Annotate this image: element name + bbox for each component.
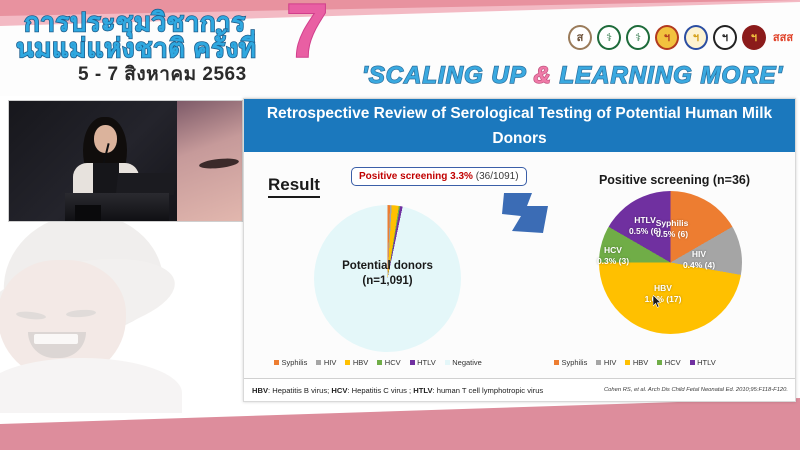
pie-slice-label-hbv: HBV 1.6% (17): [636, 283, 690, 304]
callout-percentage: Positive screening 3.3%: [359, 171, 473, 182]
tagline-ampersand: &: [534, 62, 552, 89]
mouse-cursor-icon: [653, 295, 662, 308]
conference-tagline: 'SCALING UP & LEARNING MORE': [362, 62, 783, 90]
source-citation: Cohen RS, et al. Arch Dis Child Fetal Ne…: [604, 387, 788, 393]
legend2-item-htlv: HTLV: [690, 358, 716, 367]
legend-label-hcv: HCV: [385, 358, 401, 367]
sponsor-logo-7-icon: ฯ: [742, 24, 766, 50]
legend-label-htlv: HTLV: [417, 358, 436, 367]
legend2-item-hiv: HIV: [596, 358, 616, 367]
legend-swatch-htlv: [410, 360, 415, 365]
pie-slice-label-htlv: HTLV 0.5% (6): [622, 215, 668, 236]
legend-positive-screening: Syphilis HIV HBV HCV HTLV: [554, 358, 716, 367]
presentation-slide: Retrospective Review of Serological Test…: [243, 98, 796, 402]
slide-footnote-bar: HBV: Hepatitis B virus; HCV: Hepatitis C…: [244, 378, 795, 401]
sponsor-logo-5-icon: ฯ: [684, 24, 708, 50]
legend-item-negative: Negative: [445, 358, 482, 367]
legend-swatch-hcv: [377, 360, 382, 365]
legend2-item-hbv: HBV: [625, 358, 648, 367]
legend-label-syphilis: Syphilis: [282, 358, 308, 367]
legend2-label-hiv: HIV: [604, 358, 617, 367]
conference-date: 5 - 7 สิงหาคม 2563: [78, 59, 247, 89]
callout-fraction: (36/1091): [476, 171, 519, 182]
legend2-swatch-hiv: [596, 360, 601, 365]
slice-value-hcv: 0.3% (3): [592, 256, 634, 267]
slice-value-hiv: 0.4% (4): [676, 260, 722, 271]
legend2-swatch-hcv: [657, 360, 662, 365]
flow-arrow-icon: [502, 189, 550, 235]
tagline-part2: LEARNING MORE': [552, 62, 783, 89]
abbrev-hbv-definition: : Hepatitis B virus;: [268, 386, 331, 395]
screenshot-stage: การประชุมวิชาการ นมแม่แห่งชาติ ครั้งที่ …: [0, 0, 800, 450]
abbrev-hcv: HCV: [331, 386, 347, 395]
abbrev-htlv: HTLV: [413, 386, 432, 395]
legend2-label-htlv: HTLV: [697, 358, 716, 367]
sponsor-logo-8-icon: สสส: [771, 24, 795, 50]
sponsor-logo-6-icon: ฯ: [713, 24, 737, 50]
legend-item-hcv: HCV: [377, 358, 400, 367]
sponsor-logo-1-icon: ส: [568, 24, 592, 50]
potential-donors-pie-label: Potential donors (n=1,091): [314, 259, 461, 289]
slice-name-hcv: HCV: [592, 245, 634, 256]
sponsor-logo-2-icon: ⚕: [597, 24, 621, 50]
legend-swatch-syphilis: [274, 360, 279, 365]
slice-name-htlv: HTLV: [622, 215, 668, 226]
baby-watermark-image: [0, 208, 242, 413]
conference-edition-number: 7: [286, 0, 328, 70]
pie-slice-label-hiv: HIV 0.4% (4): [676, 249, 722, 270]
result-heading: Result: [268, 175, 320, 198]
positive-screening-callout: Positive screening 3.3% (36/1091): [351, 167, 527, 186]
positive-screening-pie-title: Positive screening (n=36): [562, 173, 787, 187]
abbrev-hcv-definition: : Hepatitis C virus ;: [347, 386, 413, 395]
legend2-swatch-syphilis: [554, 360, 559, 365]
legend-label-negative: Negative: [452, 358, 482, 367]
potential-donors-subtitle: (n=1,091): [314, 274, 461, 289]
tagline-part1: 'SCALING UP: [362, 62, 534, 89]
legend2-label-syphilis: Syphilis: [562, 358, 588, 367]
abbreviation-definitions: HBV: Hepatitis B virus; HCV: Hepatitis C…: [252, 386, 543, 395]
legend-label-hbv: HBV: [353, 358, 368, 367]
legend-item-hiv: HIV: [316, 358, 336, 367]
slice-name-hbv: HBV: [636, 283, 690, 294]
legend2-swatch-htlv: [690, 360, 695, 365]
slice-name-hiv: HIV: [676, 249, 722, 260]
legend2-item-syphilis: Syphilis: [554, 358, 587, 367]
legend-item-hbv: HBV: [345, 358, 368, 367]
slice-value-hbv: 1.6% (17): [636, 294, 690, 305]
legend-label-hiv: HIV: [324, 358, 337, 367]
legend-item-htlv: HTLV: [410, 358, 436, 367]
legend-swatch-negative: [445, 360, 450, 365]
legend2-label-hcv: HCV: [665, 358, 681, 367]
sponsor-logo-4-icon: ฯ: [655, 24, 679, 50]
abbrev-hbv: HBV: [252, 386, 268, 395]
legend-item-syphilis: Syphilis: [274, 358, 307, 367]
slide-title: Retrospective Review of Serological Test…: [244, 99, 795, 152]
legend2-swatch-hbv: [625, 360, 630, 365]
sponsor-logo-row: ส ⚕ ⚕ ฯ ฯ ฯ ฯ สสส: [568, 24, 795, 50]
legend2-label-hbv: HBV: [633, 358, 648, 367]
abbrev-htlv-definition: : human T cell lymphotropic virus: [433, 386, 544, 395]
potential-donors-title: Potential donors: [314, 259, 461, 274]
legend2-item-hcv: HCV: [657, 358, 680, 367]
legend-swatch-hiv: [316, 360, 321, 365]
sponsor-logo-3-icon: ⚕: [626, 24, 650, 50]
legend-potential-donors: Syphilis HIV HBV HCV HTLV Negative: [274, 358, 482, 367]
slice-value-htlv: 0.5% (6): [622, 226, 668, 237]
legend-swatch-hbv: [345, 360, 350, 365]
pie-slice-label-hcv: HCV 0.3% (3): [592, 245, 634, 266]
speaker-video-thumbnail[interactable]: [8, 100, 243, 222]
